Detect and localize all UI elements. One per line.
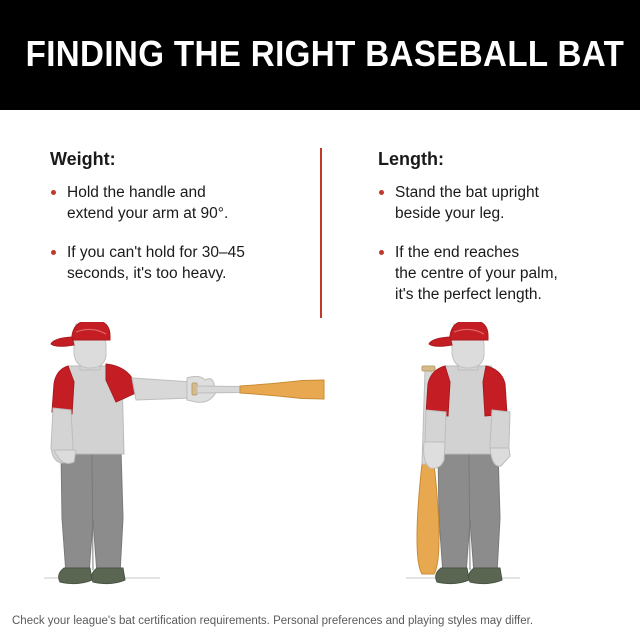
right-figure-illustration (400, 322, 600, 600)
bullet-text: Hold the handle and extend your arm at 9… (67, 182, 300, 224)
page-title: FINDING THE RIGHT BASEBALL BAT (26, 32, 615, 76)
list-item: Stand the bat upright beside your leg. (378, 182, 618, 224)
weight-bullet-list: Hold the handle and extend your arm at 9… (50, 182, 300, 284)
bat-barrel (417, 464, 439, 574)
list-item: If the end reaches the centre of your pa… (378, 242, 618, 305)
shoe-right (92, 568, 125, 584)
bullet-text: If you can't hold for 30–45 seconds, it'… (67, 242, 300, 284)
sleeve-right (483, 366, 507, 416)
list-item: If you can't hold for 30–45 seconds, it'… (50, 242, 300, 284)
bat-knob (422, 366, 435, 371)
sleeve-left (52, 366, 74, 414)
weight-column: Weight: Hold the handle and extend your … (50, 148, 300, 284)
list-item: Hold the handle and extend your arm at 9… (50, 182, 300, 224)
bullet-text: If the end reaches the centre of your pa… (395, 242, 618, 305)
bat-barrel (240, 380, 324, 399)
left-figure-illustration (40, 322, 340, 600)
shoe-left (436, 568, 469, 584)
footer-disclaimer: Check your league's bat certification re… (12, 613, 632, 629)
length-bullet-list: Stand the bat upright beside your leg. I… (378, 182, 618, 305)
arm-extended (132, 378, 192, 400)
bullet-dot-icon (51, 190, 56, 195)
length-column: Length: Stand the bat upright beside you… (378, 148, 618, 305)
bullet-dot-icon (379, 190, 384, 195)
hand-gripping-bat (424, 442, 445, 468)
bullet-dot-icon (379, 250, 384, 255)
cap-brim (429, 337, 452, 346)
weight-heading: Weight: (50, 148, 300, 170)
bullet-text: Stand the bat upright beside your leg. (395, 182, 618, 224)
length-heading: Length: (378, 148, 618, 170)
bat-handle (197, 386, 240, 393)
illustration-area (0, 322, 640, 600)
shoe-left (59, 568, 92, 584)
column-divider (320, 148, 322, 318)
bat-knob (192, 383, 197, 395)
infographic-page: FINDING THE RIGHT BASEBALL BAT Weight: H… (0, 0, 640, 640)
bullet-dot-icon (51, 250, 56, 255)
shoe-right (469, 568, 502, 584)
cap-brim (51, 337, 74, 346)
header-band: FINDING THE RIGHT BASEBALL BAT (0, 0, 640, 110)
